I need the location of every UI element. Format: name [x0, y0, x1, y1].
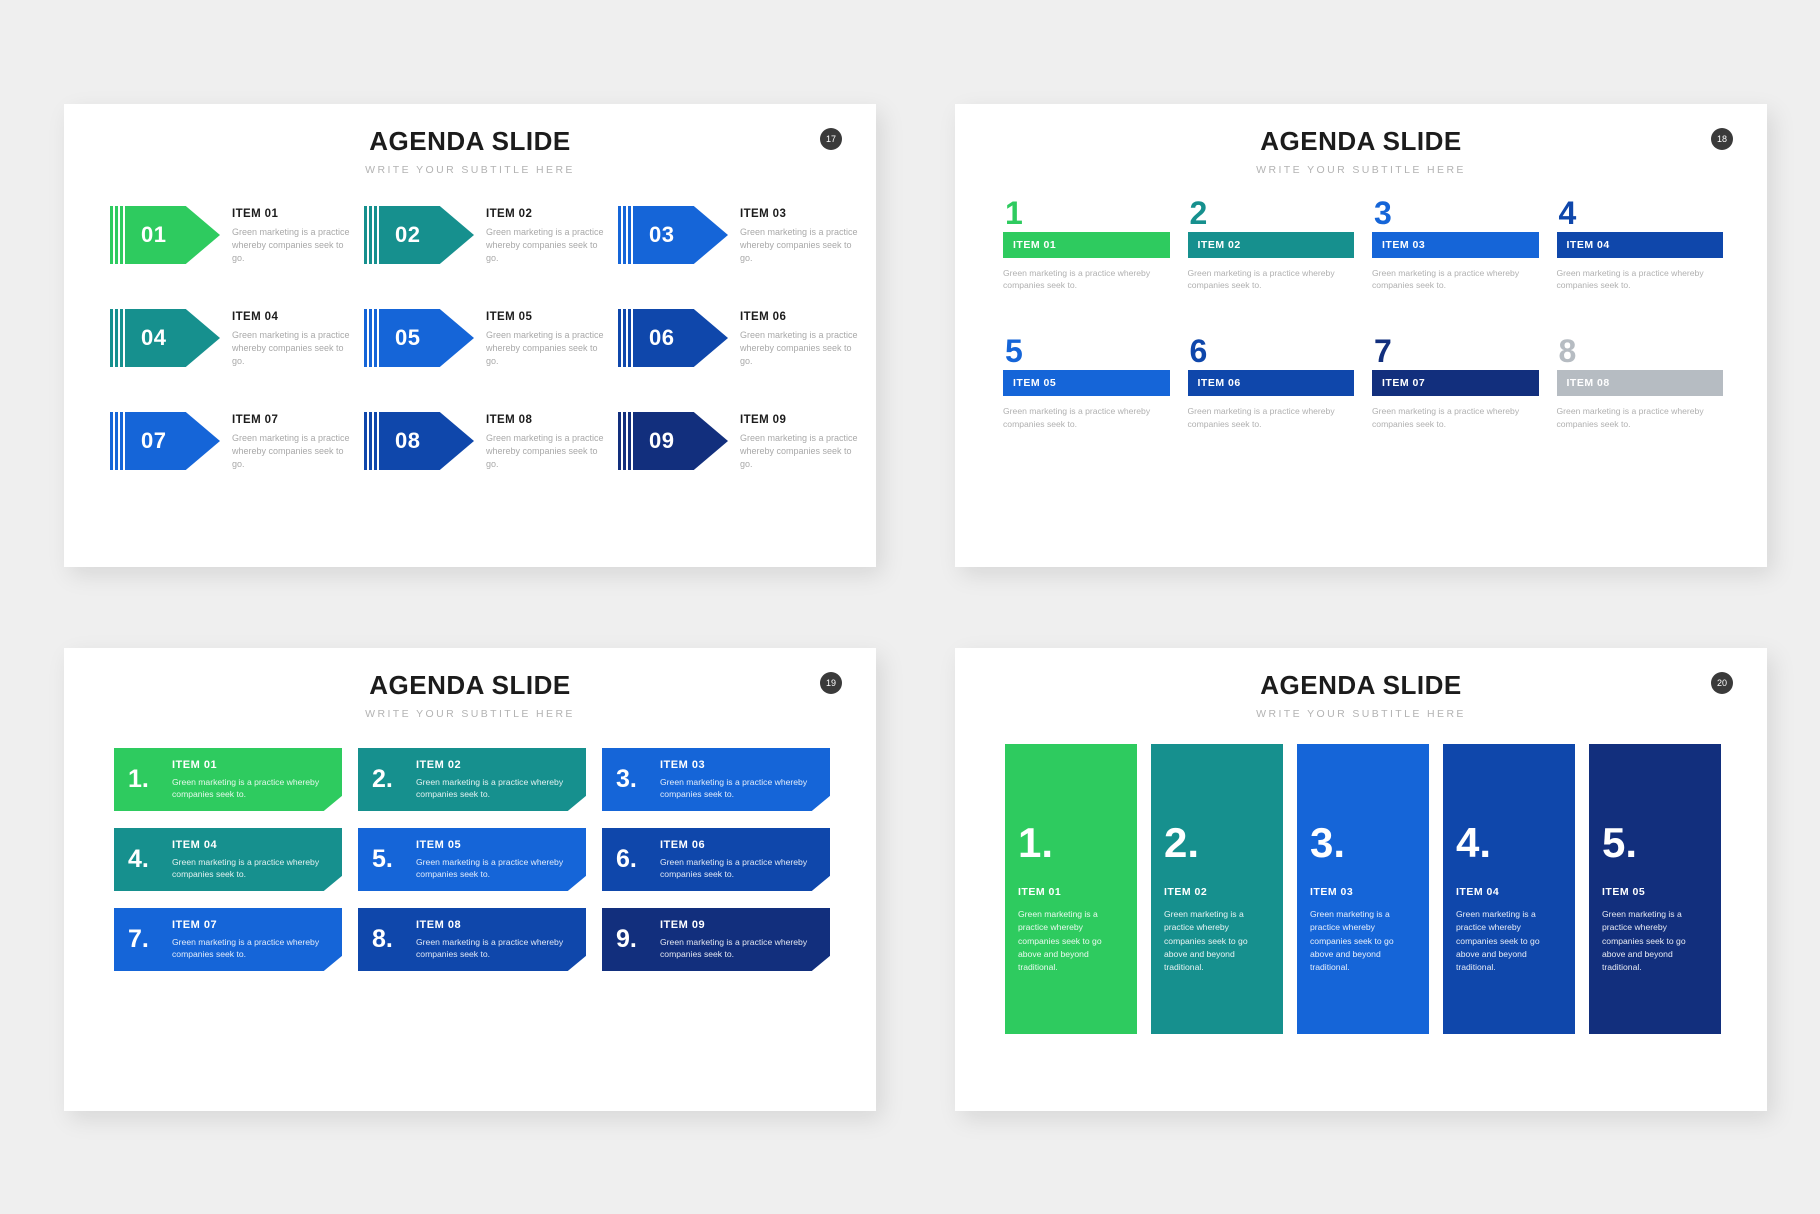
item-heading: ITEM 01	[232, 208, 350, 220]
arrow-item[interactable]: 01ITEM 01Green marketing is a practice w…	[110, 204, 350, 266]
arrow-stripes-icon	[364, 206, 377, 264]
item-heading: ITEM 05	[416, 839, 574, 851]
item-body: Green marketing is a practice whereby co…	[172, 776, 330, 801]
arrow-stripe	[120, 309, 123, 367]
column-number: 1.	[1018, 822, 1124, 864]
item-heading: ITEM 05	[1602, 886, 1708, 898]
arrow-stripes-icon	[618, 309, 631, 367]
item-heading: ITEM 06	[740, 311, 858, 323]
bar-label: ITEM 07	[1372, 370, 1539, 396]
bar-label: ITEM 02	[1188, 232, 1355, 258]
item-body: Green marketing is a practice whereby co…	[660, 936, 818, 961]
arrow-item[interactable]: 05ITEM 05Green marketing is a practice w…	[364, 307, 604, 369]
item-heading: ITEM 01	[172, 759, 330, 771]
arrow-item[interactable]: 02ITEM 02Green marketing is a practice w…	[364, 204, 604, 266]
arrow-item[interactable]: 09ITEM 09Green marketing is a practice w…	[618, 410, 858, 472]
arrow-number: 06	[649, 325, 674, 351]
item-body: Green marketing is a practice whereby co…	[660, 856, 818, 881]
folded-card[interactable]: 7.ITEM 07Green marketing is a practice w…	[114, 908, 342, 971]
arrow-shape: 06	[633, 309, 728, 367]
item-body: Green marketing is a practice whereby co…	[1310, 908, 1416, 975]
arrow-number: 08	[395, 428, 420, 454]
card-number: 3.	[616, 765, 658, 794]
arrow-item[interactable]: 04ITEM 04Green marketing is a practice w…	[110, 307, 350, 369]
arrow-stripe	[369, 206, 372, 264]
page-subtitle: WRITE YOUR SUBTITLE HERE	[64, 164, 876, 176]
arrow-text-block: ITEM 02Green marketing is a practice whe…	[486, 204, 604, 265]
arrow-shape: 02	[379, 206, 474, 264]
card-number: 1.	[128, 765, 170, 794]
arrow-stripe	[628, 206, 631, 264]
arrow-stripe	[115, 309, 118, 367]
arrow-text-block: ITEM 04Green marketing is a practice whe…	[232, 307, 350, 368]
column-card[interactable]: 5.ITEM 05Green marketing is a practice w…	[1589, 744, 1721, 1034]
card-number: 9.	[616, 925, 658, 954]
item-heading: ITEM 09	[660, 919, 818, 931]
item-heading: ITEM 07	[172, 919, 330, 931]
bar-number: 2	[1188, 200, 1355, 228]
item-heading: ITEM 04	[1456, 886, 1562, 898]
item-body: Green marketing is a practice whereby co…	[1003, 405, 1170, 431]
card-number: 7.	[128, 925, 170, 954]
slide-header: AGENDA SLIDE WRITE YOUR SUBTITLE HERE	[64, 104, 876, 176]
slide-agenda-columns[interactable]: AGENDA SLIDE WRITE YOUR SUBTITLE HERE 20…	[955, 648, 1767, 1111]
bar-item[interactable]: 3ITEM 03Green marketing is a practice wh…	[1372, 200, 1539, 292]
item-body: Green marketing is a practice whereby co…	[1602, 908, 1708, 975]
card-number: 2.	[372, 765, 414, 794]
item-heading: ITEM 05	[486, 311, 604, 323]
item-body: Green marketing is a practice whereby co…	[172, 856, 330, 881]
item-body: Green marketing is a practice whereby co…	[232, 329, 350, 368]
arrow-item[interactable]: 07ITEM 07Green marketing is a practice w…	[110, 410, 350, 472]
item-heading: ITEM 04	[172, 839, 330, 851]
arrow-stripe	[374, 206, 377, 264]
card-text-block: ITEM 01Green marketing is a practice whe…	[172, 759, 330, 801]
bar-item[interactable]: 2ITEM 02Green marketing is a practice wh…	[1188, 200, 1355, 292]
item-heading: ITEM 02	[416, 759, 574, 771]
arrow-number: 02	[395, 222, 420, 248]
arrow-stripe	[374, 309, 377, 367]
item-heading: ITEM 08	[416, 919, 574, 931]
item-heading: ITEM 03	[660, 759, 818, 771]
bar-label: ITEM 06	[1188, 370, 1355, 396]
bar-number: 3	[1372, 200, 1539, 228]
column-card[interactable]: 3.ITEM 03Green marketing is a practice w…	[1297, 744, 1429, 1034]
item-body: Green marketing is a practice whereby co…	[660, 776, 818, 801]
page-subtitle: WRITE YOUR SUBTITLE HERE	[955, 164, 1767, 176]
item-body: Green marketing is a practice whereby co…	[1188, 267, 1355, 293]
bar-number: 6	[1188, 338, 1355, 366]
page-title: AGENDA SLIDE	[955, 670, 1767, 701]
arrow-graphic: 06	[618, 307, 728, 369]
arrow-shape: 08	[379, 412, 474, 470]
card-text-block: ITEM 06Green marketing is a practice whe…	[660, 839, 818, 881]
arrow-graphic: 04	[110, 307, 220, 369]
column-card[interactable]: 1.ITEM 01Green marketing is a practice w…	[1005, 744, 1137, 1034]
page-subtitle: WRITE YOUR SUBTITLE HERE	[955, 708, 1767, 720]
card-text-block: ITEM 08Green marketing is a practice whe…	[416, 919, 574, 961]
column-number: 4.	[1456, 822, 1562, 864]
item-heading: ITEM 06	[660, 839, 818, 851]
item-heading: ITEM 08	[486, 414, 604, 426]
arrow-stripe	[364, 309, 367, 367]
arrow-item-grid: 01ITEM 01Green marketing is a practice w…	[110, 204, 840, 472]
arrow-stripes-icon	[110, 206, 123, 264]
bar-label: ITEM 01	[1003, 232, 1170, 258]
folded-card[interactable]: 3.ITEM 03Green marketing is a practice w…	[602, 748, 830, 811]
bar-label: ITEM 08	[1557, 370, 1724, 396]
item-body: Green marketing is a practice whereby co…	[1003, 267, 1170, 293]
item-body: Green marketing is a practice whereby co…	[1372, 405, 1539, 431]
column-number: 2.	[1164, 822, 1270, 864]
slide-deck-canvas: AGENDA SLIDE WRITE YOUR SUBTITLE HERE 17…	[0, 0, 1820, 1214]
arrow-stripe	[115, 206, 118, 264]
arrow-shape: 09	[633, 412, 728, 470]
item-heading: ITEM 09	[740, 414, 858, 426]
item-heading: ITEM 02	[1164, 886, 1270, 898]
column-card[interactable]: 4.ITEM 04Green marketing is a practice w…	[1443, 744, 1575, 1034]
card-number: 8.	[372, 925, 414, 954]
arrow-stripe	[618, 412, 621, 470]
item-heading: ITEM 01	[1018, 886, 1124, 898]
item-body: Green marketing is a practice whereby co…	[486, 432, 604, 471]
arrow-stripe	[364, 412, 367, 470]
arrow-shape: 01	[125, 206, 220, 264]
folded-card[interactable]: 5.ITEM 05Green marketing is a practice w…	[358, 828, 586, 891]
folded-card[interactable]: 1.ITEM 01Green marketing is a practice w…	[114, 748, 342, 811]
arrow-stripe	[110, 309, 113, 367]
bar-label: ITEM 03	[1372, 232, 1539, 258]
card-number: 5.	[372, 845, 414, 874]
page-title: AGENDA SLIDE	[955, 126, 1767, 157]
item-heading: ITEM 03	[1310, 886, 1416, 898]
arrow-text-block: ITEM 08Green marketing is a practice whe…	[486, 410, 604, 471]
arrow-number: 09	[649, 428, 674, 454]
arrow-shape: 07	[125, 412, 220, 470]
arrow-text-block: ITEM 09Green marketing is a practice whe…	[740, 410, 858, 471]
item-heading: ITEM 03	[740, 208, 858, 220]
page-title: AGENDA SLIDE	[64, 670, 876, 701]
card-text-block: ITEM 05Green marketing is a practice whe…	[416, 839, 574, 881]
arrow-stripes-icon	[618, 206, 631, 264]
bar-number: 8	[1557, 338, 1724, 366]
arrow-stripe	[618, 309, 621, 367]
slide-agenda-arrows[interactable]: AGENDA SLIDE WRITE YOUR SUBTITLE HERE 17…	[64, 104, 876, 567]
column-card-grid: 1.ITEM 01Green marketing is a practice w…	[1005, 744, 1721, 1034]
item-body: Green marketing is a practice whereby co…	[416, 856, 574, 881]
arrow-graphic: 03	[618, 204, 728, 266]
arrow-stripe	[120, 412, 123, 470]
item-body: Green marketing is a practice whereby co…	[740, 329, 858, 368]
card-text-block: ITEM 09Green marketing is a practice whe…	[660, 919, 818, 961]
card-number: 6.	[616, 845, 658, 874]
arrow-item[interactable]: 03ITEM 03Green marketing is a practice w…	[618, 204, 858, 266]
bar-item[interactable]: 1ITEM 01Green marketing is a practice wh…	[1003, 200, 1170, 292]
column-number: 5.	[1602, 822, 1708, 864]
page-number-badge: 20	[1711, 672, 1733, 694]
arrow-stripe	[628, 412, 631, 470]
arrow-stripe	[110, 206, 113, 264]
item-body: Green marketing is a practice whereby co…	[416, 776, 574, 801]
bar-item[interactable]: 6ITEM 06Green marketing is a practice wh…	[1188, 338, 1355, 430]
arrow-stripes-icon	[110, 412, 123, 470]
arrow-number: 01	[141, 222, 166, 248]
bar-number: 1	[1003, 200, 1170, 228]
arrow-stripes-icon	[618, 412, 631, 470]
arrow-stripe	[110, 412, 113, 470]
bar-label: ITEM 04	[1557, 232, 1724, 258]
arrow-stripe	[618, 206, 621, 264]
item-body: Green marketing is a practice whereby co…	[232, 432, 350, 471]
folded-card[interactable]: 6.ITEM 06Green marketing is a practice w…	[602, 828, 830, 891]
page-number-badge: 19	[820, 672, 842, 694]
item-body: Green marketing is a practice whereby co…	[1018, 908, 1124, 975]
card-number: 4.	[128, 845, 170, 874]
arrow-number: 04	[141, 325, 166, 351]
card-text-block: ITEM 07Green marketing is a practice whe…	[172, 919, 330, 961]
bar-label: ITEM 05	[1003, 370, 1170, 396]
bar-item-grid: 1ITEM 01Green marketing is a practice wh…	[1003, 200, 1723, 431]
arrow-stripe	[369, 412, 372, 470]
arrow-stripes-icon	[110, 309, 123, 367]
item-body: Green marketing is a practice whereby co…	[1557, 267, 1724, 293]
arrow-stripe	[623, 309, 626, 367]
slide-header: AGENDA SLIDE WRITE YOUR SUBTITLE HERE	[64, 648, 876, 720]
arrow-number: 03	[649, 222, 674, 248]
arrow-text-block: ITEM 01Green marketing is a practice whe…	[232, 204, 350, 265]
item-body: Green marketing is a practice whereby co…	[1557, 405, 1724, 431]
arrow-stripes-icon	[364, 309, 377, 367]
arrow-stripe	[623, 206, 626, 264]
arrow-stripe	[364, 206, 367, 264]
arrow-graphic: 05	[364, 307, 474, 369]
bar-number: 7	[1372, 338, 1539, 366]
bar-number: 4	[1557, 200, 1724, 228]
item-body: Green marketing is a practice whereby co…	[172, 936, 330, 961]
slide-agenda-folded-cards[interactable]: AGENDA SLIDE WRITE YOUR SUBTITLE HERE 19…	[64, 648, 876, 1111]
arrow-number: 07	[141, 428, 166, 454]
page-number-badge: 18	[1711, 128, 1733, 150]
page-subtitle: WRITE YOUR SUBTITLE HERE	[64, 708, 876, 720]
arrow-shape: 03	[633, 206, 728, 264]
arrow-stripe	[374, 412, 377, 470]
item-heading: ITEM 02	[486, 208, 604, 220]
bar-item[interactable]: 7ITEM 07Green marketing is a practice wh…	[1372, 338, 1539, 430]
column-number: 3.	[1310, 822, 1416, 864]
item-heading: ITEM 04	[232, 311, 350, 323]
folded-card[interactable]: 4.ITEM 04Green marketing is a practice w…	[114, 828, 342, 891]
folded-card[interactable]: 9.ITEM 09Green marketing is a practice w…	[602, 908, 830, 971]
arrow-item[interactable]: 08ITEM 08Green marketing is a practice w…	[364, 410, 604, 472]
arrow-shape: 05	[379, 309, 474, 367]
arrow-stripes-icon	[364, 412, 377, 470]
page-title: AGENDA SLIDE	[64, 126, 876, 157]
item-body: Green marketing is a practice whereby co…	[1164, 908, 1270, 975]
slide-agenda-bars[interactable]: AGENDA SLIDE WRITE YOUR SUBTITLE HERE 18…	[955, 104, 1767, 567]
arrow-stripe	[628, 309, 631, 367]
arrow-text-block: ITEM 07Green marketing is a practice whe…	[232, 410, 350, 471]
arrow-stripe	[623, 412, 626, 470]
folded-card[interactable]: 2.ITEM 02Green marketing is a practice w…	[358, 748, 586, 811]
item-body: Green marketing is a practice whereby co…	[232, 226, 350, 265]
arrow-graphic: 01	[110, 204, 220, 266]
bar-item[interactable]: 8ITEM 08Green marketing is a practice wh…	[1557, 338, 1724, 430]
page-number-badge: 17	[820, 128, 842, 150]
bar-item[interactable]: 5ITEM 05Green marketing is a practice wh…	[1003, 338, 1170, 430]
arrow-graphic: 02	[364, 204, 474, 266]
arrow-item[interactable]: 06ITEM 06Green marketing is a practice w…	[618, 307, 858, 369]
card-text-block: ITEM 04Green marketing is a practice whe…	[172, 839, 330, 881]
arrow-text-block: ITEM 05Green marketing is a practice whe…	[486, 307, 604, 368]
item-body: Green marketing is a practice whereby co…	[416, 936, 574, 961]
item-body: Green marketing is a practice whereby co…	[486, 329, 604, 368]
folded-card-grid: 1.ITEM 01Green marketing is a practice w…	[114, 748, 830, 971]
arrow-stripe	[115, 412, 118, 470]
card-text-block: ITEM 02Green marketing is a practice whe…	[416, 759, 574, 801]
arrow-text-block: ITEM 06Green marketing is a practice whe…	[740, 307, 858, 368]
item-body: Green marketing is a practice whereby co…	[740, 432, 858, 471]
arrow-text-block: ITEM 03Green marketing is a practice whe…	[740, 204, 858, 265]
slide-header: AGENDA SLIDE WRITE YOUR SUBTITLE HERE	[955, 648, 1767, 720]
item-body: Green marketing is a practice whereby co…	[740, 226, 858, 265]
card-text-block: ITEM 03Green marketing is a practice whe…	[660, 759, 818, 801]
bar-item[interactable]: 4ITEM 04Green marketing is a practice wh…	[1557, 200, 1724, 292]
item-body: Green marketing is a practice whereby co…	[486, 226, 604, 265]
item-body: Green marketing is a practice whereby co…	[1456, 908, 1562, 975]
bar-number: 5	[1003, 338, 1170, 366]
arrow-stripe	[369, 309, 372, 367]
slide-header: AGENDA SLIDE WRITE YOUR SUBTITLE HERE	[955, 104, 1767, 176]
arrow-graphic: 07	[110, 410, 220, 472]
arrow-shape: 04	[125, 309, 220, 367]
arrow-graphic: 09	[618, 410, 728, 472]
arrow-graphic: 08	[364, 410, 474, 472]
column-card[interactable]: 2.ITEM 02Green marketing is a practice w…	[1151, 744, 1283, 1034]
arrow-stripe	[120, 206, 123, 264]
item-body: Green marketing is a practice whereby co…	[1188, 405, 1355, 431]
item-heading: ITEM 07	[232, 414, 350, 426]
folded-card[interactable]: 8.ITEM 08Green marketing is a practice w…	[358, 908, 586, 971]
arrow-number: 05	[395, 325, 420, 351]
item-body: Green marketing is a practice whereby co…	[1372, 267, 1539, 293]
